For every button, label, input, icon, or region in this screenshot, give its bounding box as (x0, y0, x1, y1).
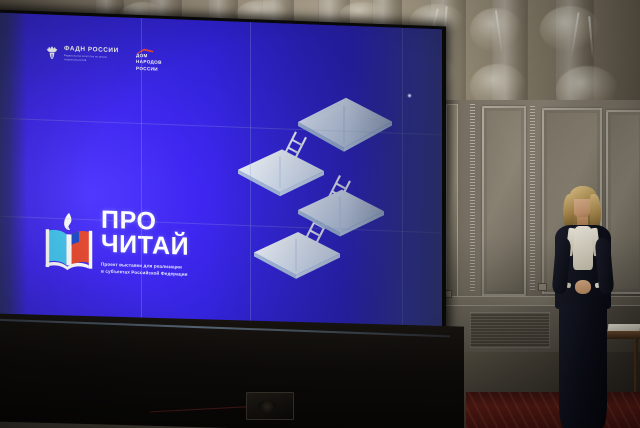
screen-left-edge-falloff (0, 13, 442, 336)
presenter (546, 186, 620, 428)
stage-platform (0, 313, 464, 428)
presenter-skirt (559, 304, 607, 428)
screen-glare-highlight (407, 93, 412, 98)
presenter-hands (575, 280, 591, 294)
monitor-speaker-grill (258, 400, 276, 413)
video-wall-screen[interactable]: ФАДН РОССИИ Федеральное агентство по дел… (0, 13, 442, 336)
presenter-hair-side (563, 194, 574, 229)
presentation-hall-scene: ФАДН РОССИИ Федеральное агентство по дел… (0, 0, 640, 428)
table-leg (634, 338, 638, 392)
